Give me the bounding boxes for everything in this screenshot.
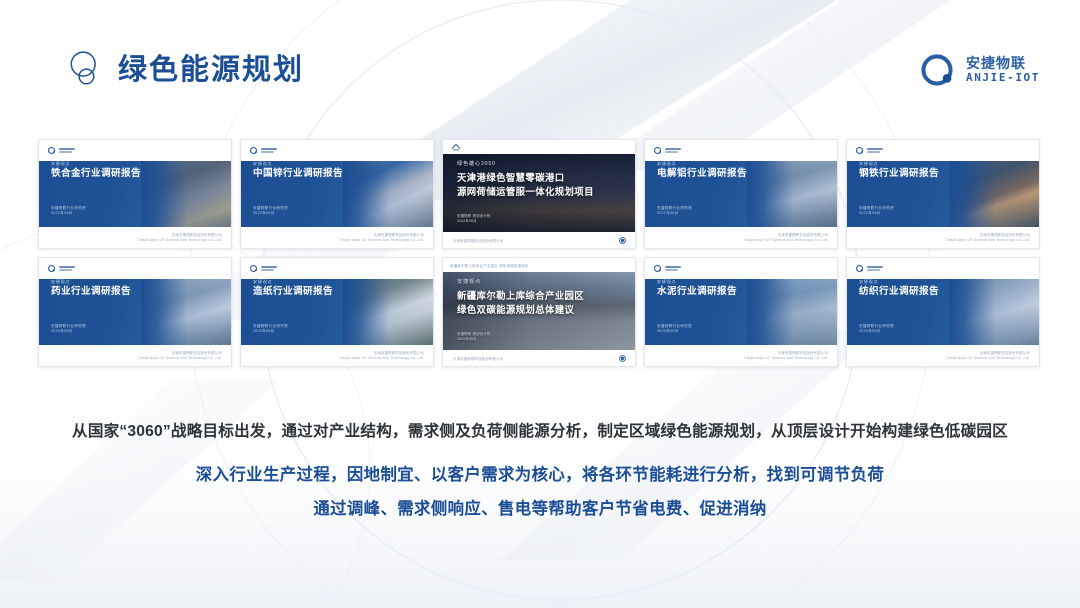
card-footer-line1: 天津安捷物联科技股份有限公司 bbox=[980, 233, 1030, 237]
card-meta: 安捷物联行业研究院 2022年06月 bbox=[859, 324, 894, 335]
card-title: 纺织行业调研报告 bbox=[859, 287, 939, 298]
anjie-ring-dot-icon bbox=[653, 264, 662, 273]
card-kicker: 安捷观点 bbox=[51, 162, 141, 166]
anjie-ring-dot-icon bbox=[618, 354, 627, 363]
anjie-ring-dot-icon bbox=[855, 146, 864, 155]
card-title: 水泥行业调研报告 bbox=[657, 287, 737, 298]
card-header-bar bbox=[645, 140, 837, 161]
card-photo-ferroalloy-plant-interior bbox=[141, 161, 231, 229]
card-title-line2: 源网荷储运管服一体化规划项目 bbox=[457, 185, 594, 199]
card-meta: 安捷物联 规划设计院 2022年06月 bbox=[457, 332, 490, 342]
card-photo-cement-plant-exterior bbox=[747, 279, 837, 347]
card-photo-hot-steel-rolling-mill bbox=[949, 161, 1039, 229]
card-header-bar: 新疆库尔勒上库综合产业园区 绿色双碳能源规划 bbox=[443, 258, 635, 272]
card-kicker: 安捷观点 bbox=[657, 162, 747, 166]
card-footer-line1: 天津安捷物联科技股份有限公司 bbox=[778, 351, 828, 355]
card-title-line2: 绿色双碳能源规划总体建议 bbox=[457, 303, 584, 317]
card-footer-line1: 天津安捷物联科技股份有限公司 bbox=[778, 233, 828, 237]
card-text-block: 绿色雄心2050 天津港绿色智慧零碳港口 源网荷储运管服一体化规划项目 bbox=[457, 162, 594, 198]
card-header-bar bbox=[443, 140, 635, 154]
card-title: 电解铝行业调研报告 bbox=[657, 169, 747, 180]
card-header-bar bbox=[241, 140, 433, 161]
card-text-block: 安捷观点 中国锌行业调研报告 bbox=[253, 162, 343, 180]
anjie-ring-dot-icon bbox=[618, 236, 627, 245]
card-footer: 天津安捷物联科技股份有限公司 Tianjin Anjie IoT Science… bbox=[39, 345, 231, 366]
report-card-pharma[interactable]: 安捷观点 药业行业调研报告 安捷物联行业研究院 2022年06月 天津安捷物联科… bbox=[38, 257, 232, 367]
statement-line-2: 深入行业生产过程，因地制宜、以客户需求为核心，将各环节能耗进行分析，找到可调节负… bbox=[0, 462, 1080, 488]
anjie-ring-dot-icon bbox=[916, 49, 958, 91]
card-footer-text: 天津安捷物联科技股份有限公司 bbox=[453, 356, 503, 361]
card-footer-line1: 天津安捷物联科技股份有限公司 bbox=[374, 233, 424, 237]
slide-header: 绿色能源规划 安捷物联 ANJIE-IOT bbox=[0, 36, 1080, 104]
card-meta-line2: 2022年06月 bbox=[859, 329, 894, 334]
report-card-ferroalloy[interactable]: 安捷观点 铁合金行业调研报告 安捷物联行业研究院 2022年06月 天津安捷物联… bbox=[38, 139, 232, 249]
card-text-block: 安捷观点 造纸行业调研报告 bbox=[253, 280, 333, 298]
card-photo-stacked-zinc-ingots bbox=[343, 161, 433, 229]
card-brand-wordmark bbox=[867, 148, 883, 153]
card-text-block: 安捷观点 药业行业调研报告 bbox=[51, 280, 131, 298]
card-text-block: 安捷观点 钢铁行业调研报告 bbox=[859, 162, 939, 180]
card-kicker: 安捷观点 bbox=[253, 280, 333, 284]
card-photo-textile-spinning-factory-aisle bbox=[949, 279, 1039, 347]
card-title-line1: 新疆库尔勒上库综合产业园区 bbox=[457, 289, 584, 303]
anjie-ring-dot-icon bbox=[249, 264, 258, 273]
card-meta-line2: 2022年06月 bbox=[51, 329, 86, 334]
card-header-bar bbox=[847, 140, 1039, 161]
card-meta: 安捷物联行业研究院 2022年06月 bbox=[253, 324, 288, 335]
card-title: 药业行业调研报告 bbox=[51, 287, 131, 298]
card-title: 中国锌行业调研报告 bbox=[253, 169, 343, 180]
card-meta-line2: 2022年06月 bbox=[657, 211, 692, 216]
report-card-paper[interactable]: 安捷观点 造纸行业调研报告 安捷物联行业研究院 2022年06月 天津安捷物联科… bbox=[240, 257, 434, 367]
card-kicker: 安捷观点 bbox=[859, 280, 939, 284]
card-footer-line2: Tianjin Anjie IoT Science And Technology… bbox=[340, 356, 424, 360]
card-footer: 天津安捷物联科技股份有限公司 Tianjin Anjie IoT Science… bbox=[645, 345, 837, 366]
card-footer-line2: Tianjin Anjie IoT Science And Technology… bbox=[138, 238, 222, 242]
card-brand-wordmark bbox=[59, 148, 75, 153]
card-footer-line1: 天津安捷物联科技股份有限公司 bbox=[374, 351, 424, 355]
card-meta-line2: 2022年06月 bbox=[657, 329, 692, 334]
card-meta-line2: 2022年06月 bbox=[253, 329, 288, 334]
report-card-textile[interactable]: 安捷观点 纺织行业调研报告 安捷物联行业研究院 2022年06月 天津安捷物联科… bbox=[846, 257, 1040, 367]
card-footer: 天津安捷物联科技股份有限公司 Tianjin Anjie IoT Science… bbox=[241, 227, 433, 248]
card-footer: 天津安捷物联科技股份有限公司 bbox=[443, 350, 635, 366]
anjie-ring-dot-icon bbox=[855, 264, 864, 273]
card-meta: 安捷物联行业研究院 2022年06月 bbox=[51, 324, 86, 335]
report-thumbnail-grid: 安捷观点 铁合金行业调研报告 安捷物联行业研究院 2022年06月 天津安捷物联… bbox=[38, 139, 1043, 367]
card-brand-wordmark bbox=[665, 148, 681, 153]
card-header-bar bbox=[241, 258, 433, 279]
card-meta: 安捷物联行业研究院 2022年06月 bbox=[657, 324, 692, 335]
card-header-bar bbox=[847, 258, 1039, 279]
statement-block: 从国家“3060”战略目标出发，通过对产业结构，需求侧及负荷侧能源分析，制定区域… bbox=[0, 420, 1080, 522]
card-meta-line2: 2022年06月 bbox=[457, 219, 490, 224]
report-card-cement[interactable]: 安捷观点 水泥行业调研报告 安捷物联行业研究院 2022年06月 天津安捷物联科… bbox=[644, 257, 838, 367]
card-title: 造纸行业调研报告 bbox=[253, 287, 333, 298]
brand-lockup: 安捷物联 ANJIE-IOT bbox=[916, 49, 1040, 91]
card-footer-line2: Tianjin Anjie IoT Science And Technology… bbox=[138, 356, 222, 360]
card-text-block: 安捷观点 纺织行业调研报告 bbox=[859, 280, 939, 298]
card-footer: 天津安捷物联科技股份有限公司 Tianjin Anjie IoT Science… bbox=[847, 227, 1039, 248]
card-brand-wordmark bbox=[59, 266, 75, 271]
card-footer-line2: Tianjin Anjie IoT Science And Technology… bbox=[744, 356, 828, 360]
card-text-block: 安捷观点 电解铝行业调研报告 bbox=[657, 162, 747, 180]
card-header-bar bbox=[39, 140, 231, 161]
card-kicker: 安捷观点 bbox=[657, 280, 737, 284]
card-header-tag: 新疆库尔勒上库综合产业园区 绿色双碳能源规划 bbox=[450, 263, 529, 268]
card-brand-wordmark bbox=[665, 266, 681, 271]
card-kicker: 安捷观点 bbox=[51, 280, 131, 284]
card-kicker: 安捷观点 bbox=[457, 280, 584, 285]
card-text-block: 安捷观点 水泥行业调研报告 bbox=[657, 280, 737, 298]
page-title: 绿色能源规划 bbox=[118, 56, 304, 85]
report-card-steel[interactable]: 安捷观点 钢铁行业调研报告 安捷物联行业研究院 2022年06月 天津安捷物联科… bbox=[846, 139, 1040, 249]
card-meta: 安捷物联行业研究院 2022年06月 bbox=[657, 206, 692, 217]
anjie-ring-dot-icon bbox=[47, 264, 56, 273]
card-footer: 天津安捷物联科技股份有限公司 Tianjin Anjie IoT Science… bbox=[847, 345, 1039, 366]
card-photo-pharmaceutical-production-line bbox=[141, 279, 231, 347]
brand-text: 安捷物联 ANJIE-IOT bbox=[966, 56, 1040, 84]
card-footer-line2: Tianjin Anjie IoT Science And Technology… bbox=[946, 238, 1030, 242]
card-meta: 安捷物联行业研究院 2022年06月 bbox=[51, 206, 86, 217]
card-meta: 安捷物联行业研究院 2022年06月 bbox=[859, 206, 894, 217]
report-card-electrolytic-aluminum[interactable]: 安捷观点 电解铝行业调研报告 安捷物联行业研究院 2022年06月 天津安捷物联… bbox=[644, 139, 838, 249]
anjie-wordmark-icon bbox=[450, 143, 462, 151]
anjie-ring-dot-icon bbox=[47, 146, 56, 155]
statement-line-3: 通过调峰、需求侧响应、售电等帮助客户节省电费、促进消纳 bbox=[0, 496, 1080, 522]
card-text-block: 安捷观点 铁合金行业调研报告 bbox=[51, 162, 141, 180]
card-kicker: 安捷观点 bbox=[859, 162, 939, 166]
statement-line-1: 从国家“3060”战略目标出发，通过对产业结构，需求侧及负荷侧能源分析，制定区域… bbox=[0, 420, 1080, 445]
card-meta: 安捷物联 规划设计院 2022年06月 bbox=[457, 214, 490, 224]
card-kicker: 安捷观点 bbox=[253, 162, 343, 166]
anjie-ring-dot-icon bbox=[653, 146, 662, 155]
report-card-korla-park[interactable]: 新疆库尔勒上库综合产业园区 绿色双碳能源规划 安捷观点 新疆库尔勒上库综合产业园… bbox=[442, 257, 636, 367]
card-header-bar bbox=[39, 258, 231, 279]
card-photo-aluminum-smelter-hall bbox=[747, 161, 837, 229]
brand-name-cn: 安捷物联 bbox=[966, 56, 1040, 72]
card-footer-line1: 天津安捷物联科技股份有限公司 bbox=[172, 233, 222, 237]
card-footer: 天津安捷物联科技股份有限公司 bbox=[443, 232, 635, 248]
card-meta-line2: 2022年06月 bbox=[457, 337, 490, 342]
card-meta: 安捷物联行业研究院 2022年06月 bbox=[253, 206, 288, 217]
card-brand-wordmark bbox=[261, 266, 277, 271]
card-footer-line1: 天津安捷物联科技股份有限公司 bbox=[172, 351, 222, 355]
card-text-block: 安捷观点 新疆库尔勒上库综合产业园区 绿色双碳能源规划总体建议 bbox=[457, 280, 584, 316]
card-kicker: 绿色雄心2050 bbox=[457, 162, 594, 167]
report-card-zinc[interactable]: 安捷观点 中国锌行业调研报告 安捷物联行业研究院 2022年06月 天津安捷物联… bbox=[240, 139, 434, 249]
report-card-tianjin-port[interactable]: 绿色雄心2050 天津港绿色智慧零碳港口 源网荷储运管服一体化规划项目 安捷物联… bbox=[442, 139, 636, 249]
card-meta-line2: 2022年06月 bbox=[859, 211, 894, 216]
card-footer-line2: Tianjin Anjie IoT Science And Technology… bbox=[946, 356, 1030, 360]
card-photo-paper-mill-roll-machine bbox=[343, 279, 433, 347]
card-title-line1: 天津港绿色智慧零碳港口 bbox=[457, 171, 594, 185]
card-meta-line2: 2022年06月 bbox=[253, 211, 288, 216]
card-footer: 天津安捷物联科技股份有限公司 Tianjin Anjie IoT Science… bbox=[39, 227, 231, 248]
title-group: 绿色能源规划 bbox=[58, 48, 304, 92]
card-footer-line1: 天津安捷物联科技股份有限公司 bbox=[980, 351, 1030, 355]
slide-canvas: 绿色能源规划 安捷物联 ANJIE-IOT bbox=[0, 0, 1080, 608]
card-footer-text: 天津安捷物联科技股份有限公司 bbox=[453, 238, 503, 243]
card-title: 铁合金行业调研报告 bbox=[51, 169, 141, 180]
card-footer-line2: Tianjin Anjie IoT Science And Technology… bbox=[340, 238, 424, 242]
anjie-ring-dot-icon bbox=[249, 146, 258, 155]
brand-name-en: ANJIE-IOT bbox=[966, 72, 1040, 84]
card-header-bar bbox=[645, 258, 837, 279]
card-footer-line2: Tianjin Anjie IoT Science And Technology… bbox=[744, 238, 828, 242]
card-title: 钢铁行业调研报告 bbox=[859, 169, 939, 180]
crescent-circle-logo-icon bbox=[58, 48, 102, 92]
card-footer: 天津安捷物联科技股份有限公司 Tianjin Anjie IoT Science… bbox=[241, 345, 433, 366]
card-meta-line2: 2022年06月 bbox=[51, 211, 86, 216]
card-brand-wordmark bbox=[867, 266, 883, 271]
card-footer: 天津安捷物联科技股份有限公司 Tianjin Anjie IoT Science… bbox=[645, 227, 837, 248]
card-brand-wordmark bbox=[261, 148, 277, 153]
